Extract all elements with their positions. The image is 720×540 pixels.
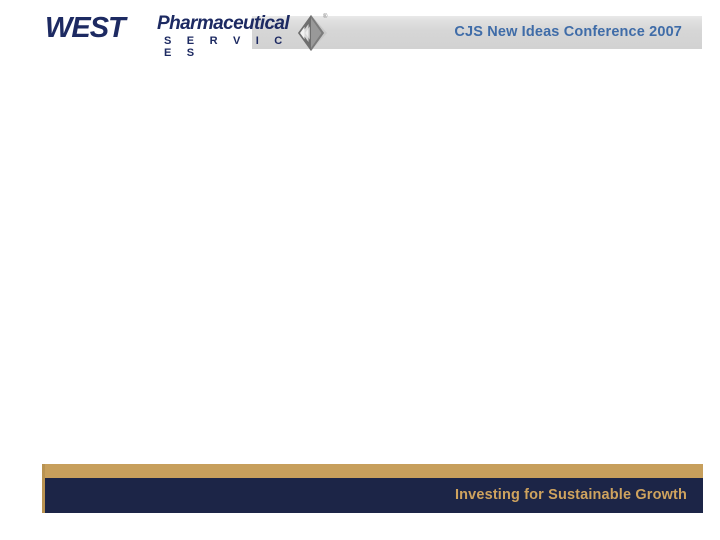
conference-title: CJS New Ideas Conference 2007: [454, 16, 682, 49]
logo-wordmark-pharmaceutical: Pharmaceutical: [157, 14, 289, 34]
presentation-slide: CJS New Ideas Conference 2007 WEST Pharm…: [0, 0, 720, 540]
presentation-tagline: Investing for Sustainable Growth: [455, 478, 687, 513]
footer-bar: Investing for Sustainable Growth: [42, 478, 703, 513]
slide-header: CJS New Ideas Conference 2007 WEST Pharm…: [0, 0, 720, 62]
registered-trademark-icon: ®: [323, 14, 327, 20]
logo-wordmark-west: WEST: [45, 13, 125, 43]
footer-accent-bar: [42, 464, 703, 478]
west-pharmaceutical-logo: WEST Pharmaceutical S E R V I C E S: [45, 12, 290, 50]
west-diamond-chevron-icon: [281, 15, 337, 51]
slide-content-area: [45, 62, 703, 462]
footer-left-accent-edge: [42, 464, 45, 513]
logo-wordmark-services: S E R V I C E S: [164, 35, 290, 59]
